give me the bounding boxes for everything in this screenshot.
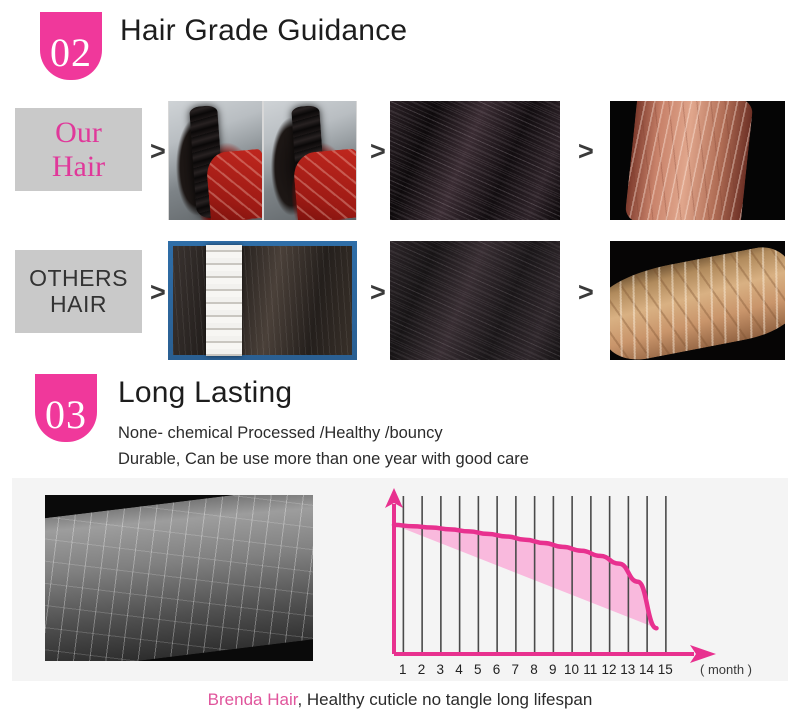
chevron-right-icon: > [370, 138, 386, 165]
row-label-others-hair: OTHERS HAIR [15, 250, 142, 333]
section-badge-03: 03 [35, 374, 97, 442]
chevron-right-icon: > [578, 279, 594, 306]
chart-x-tick: 14 [639, 662, 654, 677]
chart-x-tick: 15 [658, 662, 673, 677]
chart-x-tick: 11 [583, 662, 597, 677]
section-title-long-lasting: Long Lasting [118, 376, 292, 410]
row-label-line-1: OTHERS [29, 266, 128, 292]
chevron-right-icon: > [370, 279, 386, 306]
chart-x-tick: 7 [511, 662, 519, 677]
tile-healthy-cuticle-microscope [610, 101, 785, 220]
tile-braided-hair-photos [168, 101, 357, 220]
hair-cuticle-sem-image [45, 495, 313, 661]
row-label-line-2: Hair [52, 150, 105, 184]
chart-x-tick: 13 [620, 662, 635, 677]
caption-rest: , Healthy cuticle no tangle long lifespa… [297, 690, 592, 709]
footer-caption: Brenda Hair, Healthy cuticle no tangle l… [0, 690, 800, 710]
section-badge-02: 02 [40, 12, 102, 80]
hair-lifespan-decay-chart [372, 482, 772, 680]
chart-x-tick: 10 [564, 662, 579, 677]
chevron-right-icon: > [150, 138, 166, 165]
section-description-line-2: Durable, Can be use more than one year w… [118, 450, 529, 469]
chart-x-tick: 6 [493, 662, 501, 677]
tile-glossy-black-hair-closeup [390, 101, 560, 220]
chevron-right-icon: > [578, 138, 594, 165]
chart-x-tick: 8 [530, 662, 538, 677]
section-description-line-1: None- chemical Processed /Healthy /bounc… [118, 424, 443, 443]
chart-x-tick: 12 [601, 662, 616, 677]
row-label-line-2: HAIR [29, 292, 128, 318]
infographic-page: 02 Hair Grade Guidance Our Hair > > > OT… [0, 0, 800, 726]
row-label-line-1: Our [52, 116, 105, 150]
chart-x-axis-label: ( month ) [700, 662, 752, 677]
chart-x-tick: 2 [418, 662, 426, 677]
chevron-right-icon: > [150, 279, 166, 306]
row-label-our-hair: Our Hair [15, 108, 142, 191]
tile-damaged-cuticle-microscope [610, 241, 785, 360]
chart-x-tick: 3 [436, 662, 444, 677]
tile-dull-black-hair-closeup [390, 241, 560, 360]
brand-name: Brenda Hair [208, 690, 298, 709]
chart-x-tick: 5 [474, 662, 482, 677]
chart-x-tick: 4 [455, 662, 463, 677]
chart-x-tick: 1 [399, 662, 407, 677]
chart-x-tick: 9 [549, 662, 557, 677]
section-title-hair-grade-guidance: Hair Grade Guidance [120, 14, 407, 48]
tile-bulk-hair-basket-photo [168, 241, 357, 360]
